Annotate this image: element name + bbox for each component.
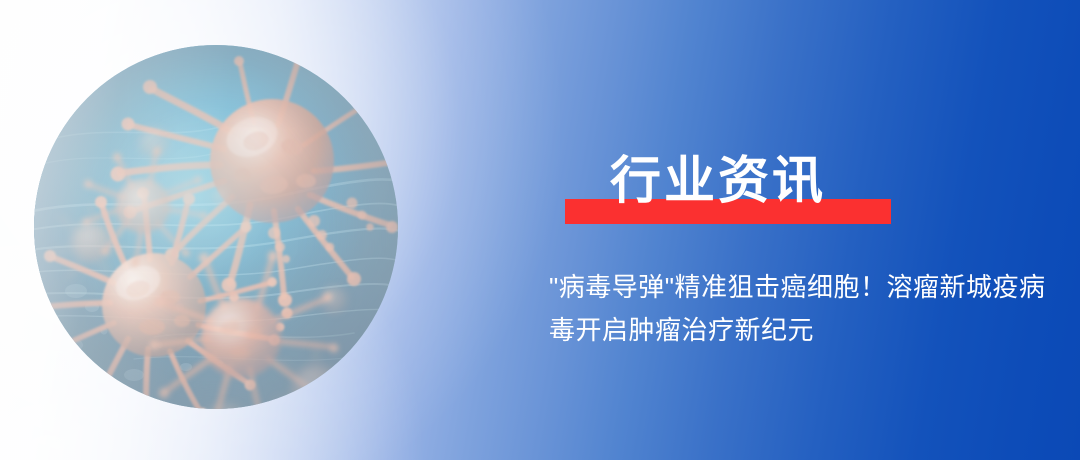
hero-virus-particles [34, 45, 398, 409]
banner-content: 行业资讯 "病毒导弹"精准狙击癌细胞！溶瘤新城疫病毒开启肿瘤治疗新纪元 [549, 0, 1059, 460]
industry-news-banner: 行业资讯 "病毒导弹"精准狙击癌细胞！溶瘤新城疫病毒开启肿瘤治疗新纪元 [0, 0, 1080, 460]
page-title: 行业资讯 [610, 152, 826, 210]
banner-subtitle: "病毒导弹"精准狙击癌细胞！溶瘤新城疫病毒开启肿瘤治疗新纪元 [549, 266, 1049, 352]
title-group: 行业资讯 [565, 152, 905, 228]
hero-circle-image [34, 45, 398, 409]
